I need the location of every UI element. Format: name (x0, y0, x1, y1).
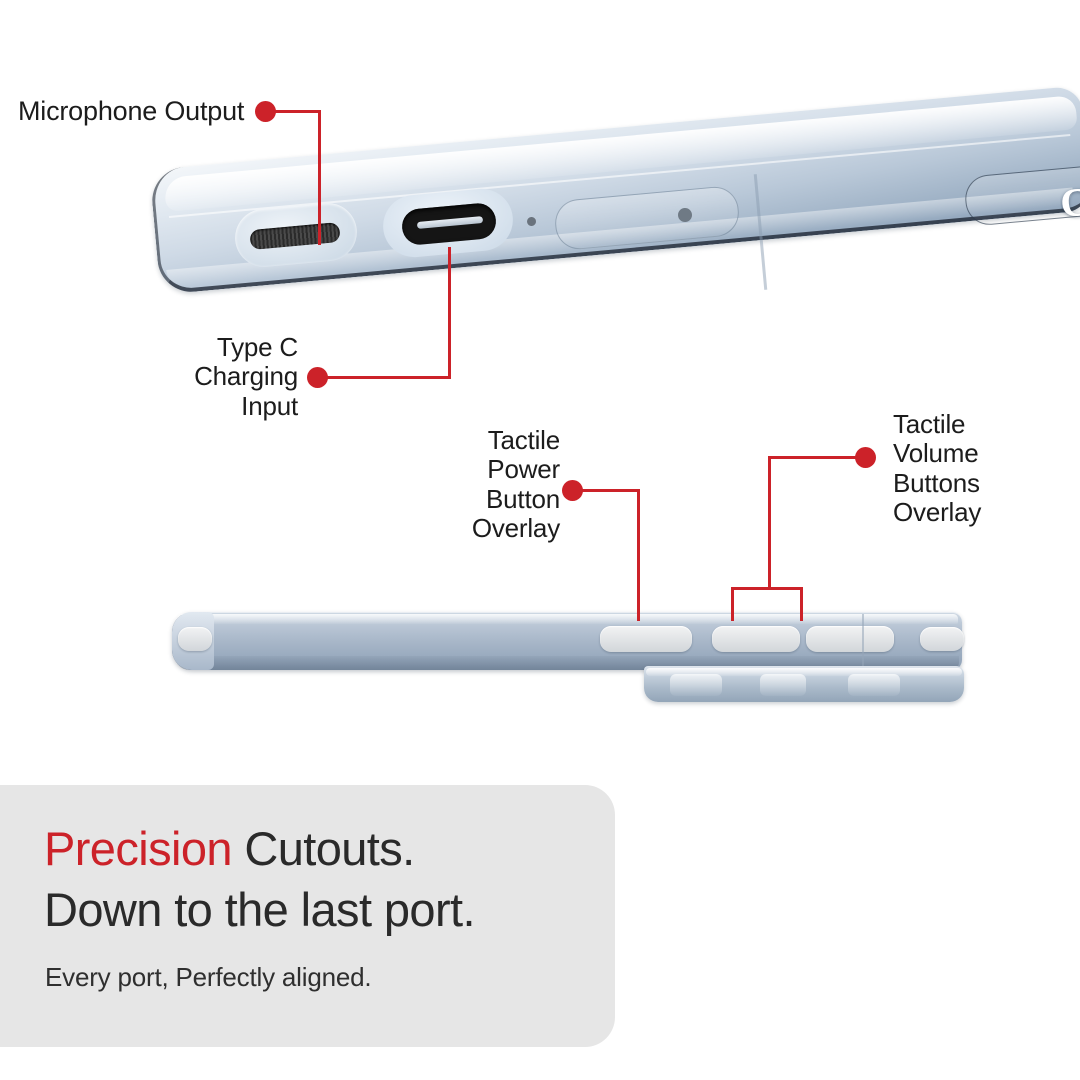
panel-headline: Precision Cutouts.Down to the last port. (44, 818, 475, 940)
power-callout-dot (562, 480, 583, 501)
headline-line2: Down to the last port. (44, 883, 475, 936)
camera-lens-2 (760, 674, 806, 696)
volume-leader-horizontal (768, 456, 858, 459)
callout-label-microphone-output: Microphone Output (18, 96, 244, 127)
volume-callout-dot (855, 447, 876, 468)
phone-bottom-edge-view: CAPESHOPPERS (155, 130, 1080, 320)
microphone-callout-dot (255, 101, 276, 122)
typec-leader-vertical (448, 247, 451, 379)
microphone-leader-horizontal (274, 110, 321, 113)
volume-leader-fork-right (800, 587, 803, 621)
button-partial-right (920, 627, 964, 651)
volume-down-button-overlay (806, 626, 894, 652)
button-partial-left (178, 627, 212, 651)
infographic-stage: CAPESHOPPERS Microphone Output Type C Ch… (0, 0, 1080, 1080)
power-leader-horizontal (580, 489, 640, 492)
case-side-seam (862, 614, 864, 668)
volume-leader-vertical (768, 456, 771, 589)
callout-label-tactile-volume-buttons-overlay: Tactile Volume Buttons Overlay (893, 410, 1053, 528)
volume-up-button-overlay (712, 626, 800, 652)
panel-subline: Every port, Perfectly aligned. (45, 962, 371, 993)
volume-leader-fork-left (731, 587, 734, 621)
volume-leader-fork-bar (731, 587, 803, 590)
typec-callout-dot (307, 367, 328, 388)
callout-label-type-c-charging-input: Type C Charging Input (150, 333, 298, 421)
camera-lens-3 (848, 674, 900, 696)
callout-label-tactile-power-button-overlay: Tactile Power Button Overlay (430, 426, 560, 544)
headline-rest-line1: Cutouts. (232, 822, 415, 875)
headline-accent-word: Precision (44, 822, 232, 875)
camera-lens-1 (670, 674, 722, 696)
typec-leader-horizontal (326, 376, 451, 379)
microphone-leader-vertical (318, 110, 321, 245)
power-leader-vertical (637, 489, 640, 621)
phone-side-edge-view (172, 612, 962, 702)
power-button-overlay (600, 626, 692, 652)
